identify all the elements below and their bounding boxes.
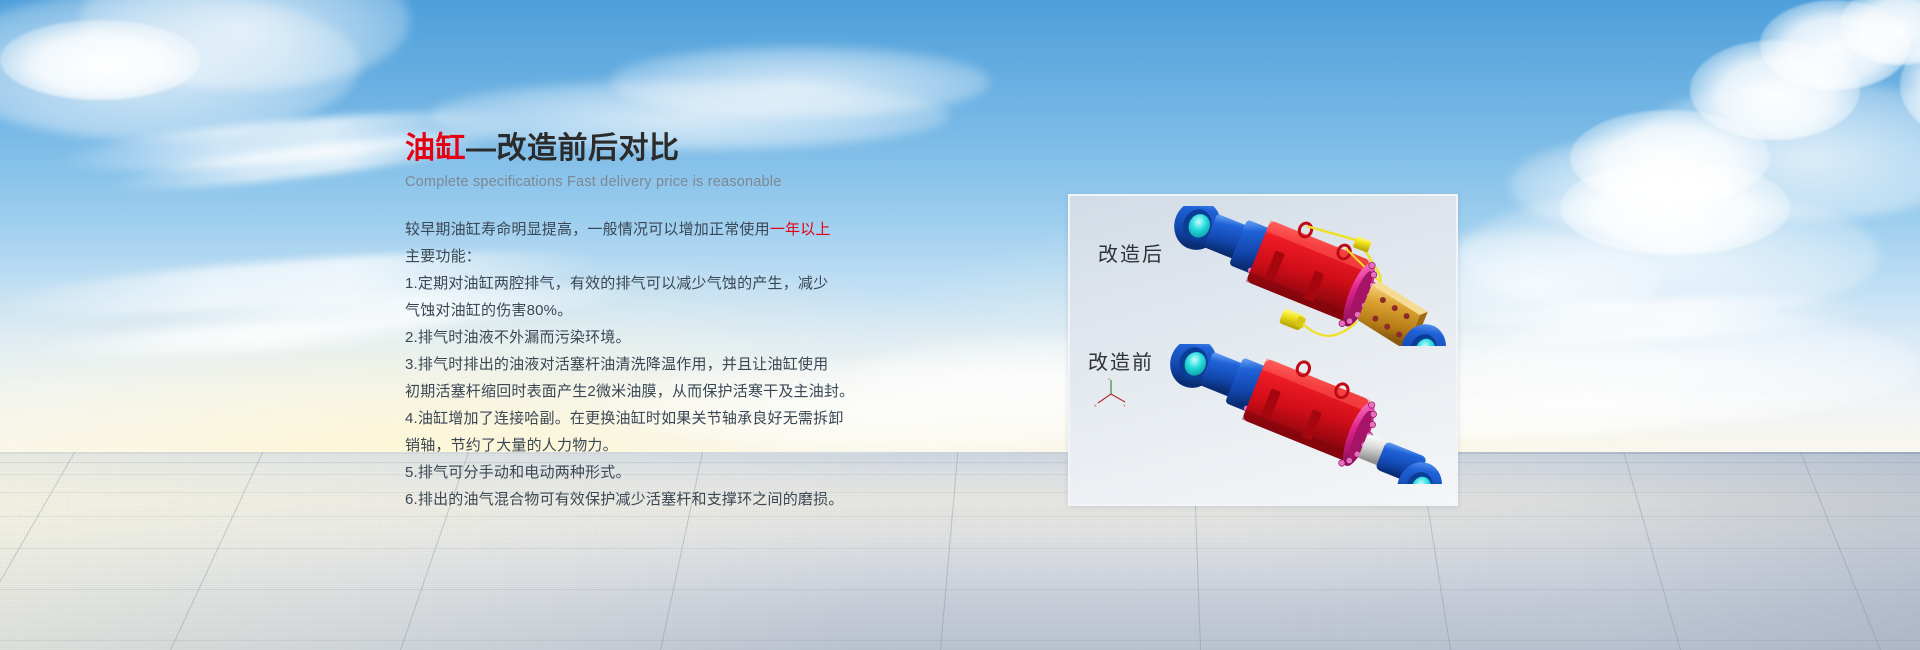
- figure-after-modification: 改造后液压油缸三维模型: [1142, 206, 1458, 346]
- banner-copy: 油缸—改造前后对比 Complete specifications Fast d…: [405, 132, 985, 513]
- comparison-image-panel: 改造后 改造前 Z X Y 改造后液压油缸三维模型: [1068, 194, 1458, 506]
- page-subtitle: Complete specifications Fast delivery pr…: [405, 174, 985, 190]
- intro-highlight: 一年以上: [770, 221, 831, 238]
- intro-line-1: 较早期油缸寿命明显提高，一般情况可以增加正常使用一年以上: [405, 216, 985, 243]
- coordinate-axis-gizmo: Z X Y: [1094, 378, 1128, 408]
- feature-line: 气蚀对油缸的伤害80%。: [405, 297, 985, 324]
- feature-line: 6.排出的油气混合物可有效保护减少活塞杆和支撑环之间的磨损。: [405, 486, 985, 513]
- svg-text:Y: Y: [1123, 403, 1126, 408]
- feature-line: 初期活塞杆缩回时表面产生2微米油膜，从而保护活寒干及主油封。: [405, 378, 985, 405]
- feature-line: 销轴，节约了大量的人力物力。: [405, 432, 985, 459]
- feature-line: 1.定期对油缸两腔排气，有效的排气可以减少气蚀的产生，减少: [405, 270, 985, 297]
- feature-line: 4.油缸增加了连接哈副。在更换油缸时如果关节轴承良好无需拆卸: [405, 405, 985, 432]
- page-title-rest: —改造前后对比: [466, 132, 680, 165]
- page-title: 油缸—改造前后对比: [405, 132, 985, 165]
- svg-text:X: X: [1094, 403, 1097, 408]
- intro-line-2: 主要功能：: [405, 243, 985, 270]
- feature-line: 2.排气时油液不外漏而污染环境。: [405, 324, 985, 351]
- page-title-accent: 油缸: [405, 132, 466, 165]
- feature-line: 3.排气时排出的油液对活塞杆油清洗降温作用，并且让油缸使用: [405, 351, 985, 378]
- feature-list: 较早期油缸寿命明显提高，一般情况可以增加正常使用一年以上 主要功能： 1.定期对…: [405, 216, 985, 513]
- banner-stage: 油缸—改造前后对比 Complete specifications Fast d…: [0, 0, 1920, 650]
- feature-line: 5.排气可分手动和电动两种形式。: [405, 459, 985, 486]
- figure-before-modification: 改造前液压油缸三维模型: [1138, 344, 1458, 484]
- intro-line-1-text: 较早期油缸寿命明显提高，一般情况可以增加正常使用: [405, 221, 770, 238]
